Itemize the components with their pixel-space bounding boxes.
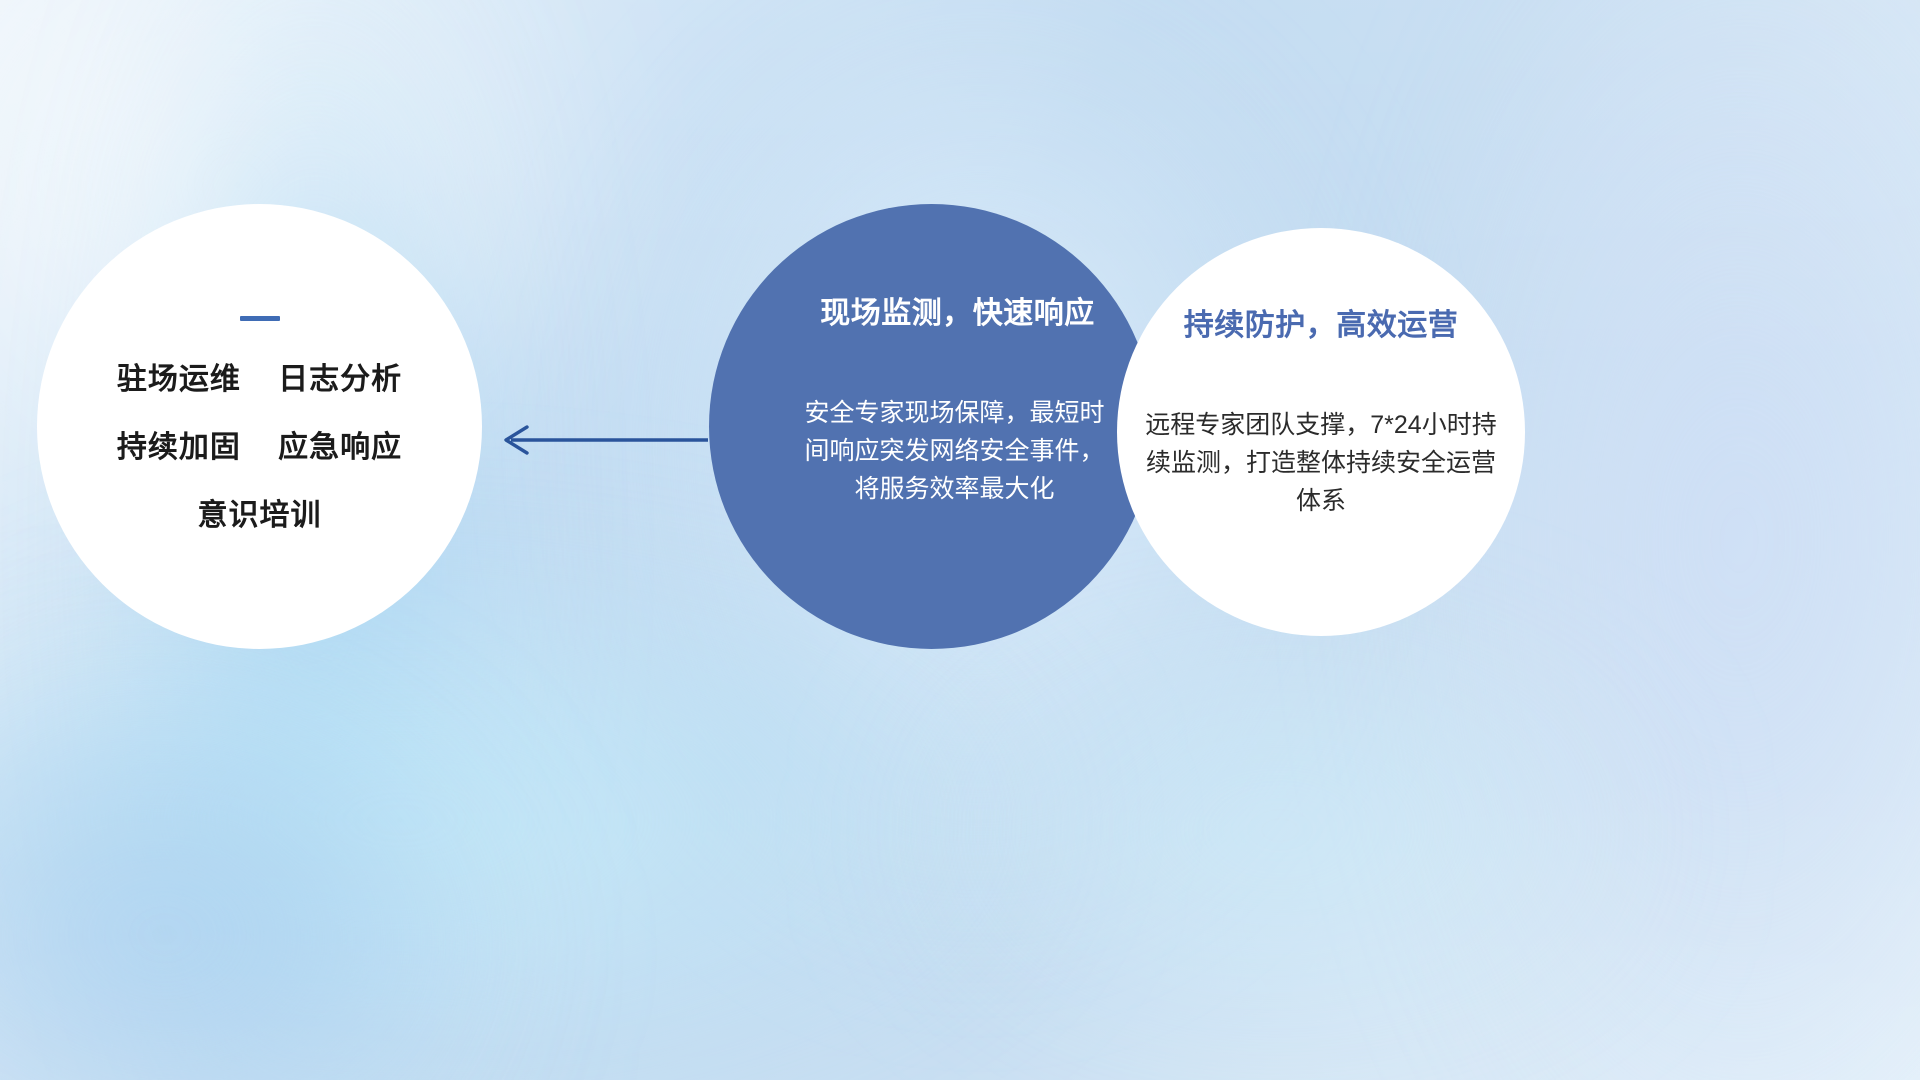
node-continuous-protection-title: 持续防护，高效运营 xyxy=(1184,300,1459,344)
node-capabilities[interactable]: 驻场运维 日志分析 持续加固 应急响应 意识培训 xyxy=(37,204,482,649)
node-onsite-monitoring[interactable]: 现场监测，快速响应 安全专家现场保障，最短时间响应突发网络安全事件，将服务效率最… xyxy=(709,204,1154,649)
keyword-line-3: 意识培训 xyxy=(198,501,322,531)
node-continuous-protection-body: 远程专家团队支撑，7*24小时持续监测，打造整体持续安全运营体系 xyxy=(1135,406,1507,520)
keyword-line-2: 持续加固 应急响应 xyxy=(117,433,402,463)
keyword-line-1: 驻场运维 日志分析 xyxy=(117,365,402,395)
node-continuous-protection-content: 持续防护，高效运营 远程专家团队支撑，7*24小时持续监测，打造整体持续安全运营… xyxy=(1117,228,1525,636)
flow-arrow-left-icon xyxy=(495,415,710,465)
node-onsite-monitoring-body: 安全专家现场保障，最短时间响应突发网络安全事件，将服务效率最大化 xyxy=(805,394,1105,508)
node-capabilities-content: 驻场运维 日志分析 持续加固 应急响应 意识培训 xyxy=(37,204,482,649)
node-onsite-monitoring-content: 现场监测，快速响应 安全专家现场保障，最短时间响应突发网络安全事件，将服务效率最… xyxy=(709,204,1154,649)
divider-dash xyxy=(240,316,280,321)
node-onsite-monitoring-title: 现场监测，快速响应 xyxy=(820,288,1095,332)
node-continuous-protection[interactable]: 持续防护，高效运营 远程专家团队支撑，7*24小时持续监测，打造整体持续安全运营… xyxy=(1117,228,1525,636)
